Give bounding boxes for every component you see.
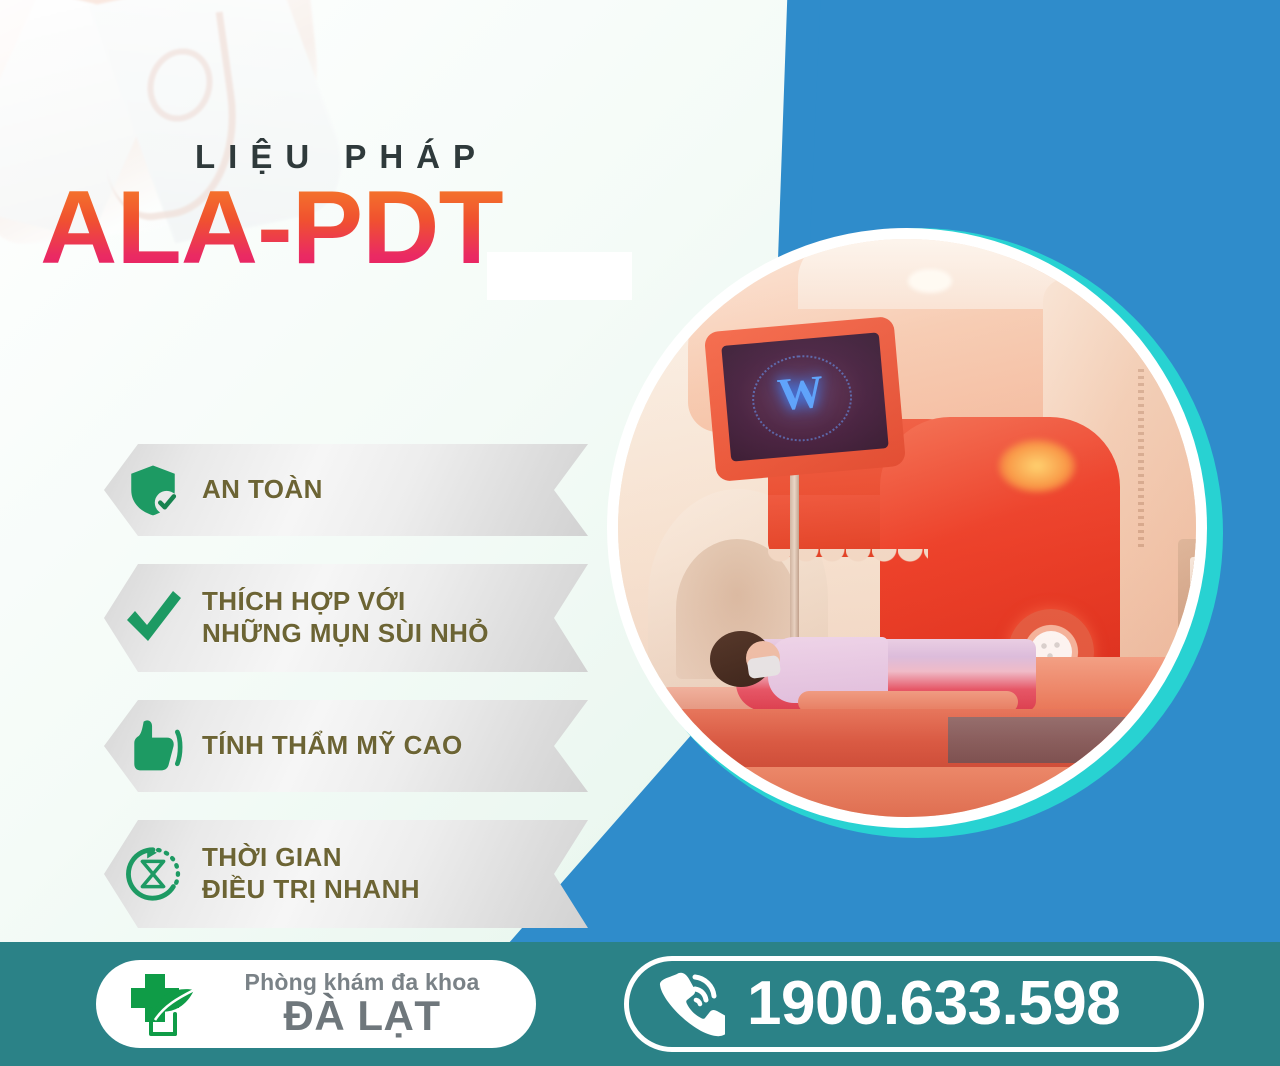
shield-check-icon [104,461,202,519]
feature-line: AN TOÀN [202,474,323,506]
feature-badge-thich-hop[interactable]: THÍCH HỢP VỚI NHỮNG MỤN SÙI NHỎ [104,564,588,672]
medical-cross-leaf-icon [118,968,210,1040]
clock-hourglass-icon [104,844,202,904]
phone-number: 1900.633.598 [747,973,1120,1035]
page-title: ALA-PDT [40,181,503,277]
clinic-logo-pill[interactable]: Phòng khám đa khoa ĐÀ LẠT [96,960,536,1048]
thumbs-up-icon [104,717,202,775]
feature-line: NHỮNG MỤN SÙI NHỎ [202,618,489,650]
check-mark-icon [104,587,202,649]
feature-badge-text: THÍCH HỢP VỚI NHỮNG MỤN SÙI NHỎ [202,586,529,649]
feature-badge-text: TÍNH THẨM MỸ CAO [202,730,503,762]
phone-cta[interactable]: 1900.633.598 [624,956,1204,1052]
heading-kicker: LIỆU PHÁP [40,140,660,173]
feature-badge-text: AN TOÀN [202,474,363,506]
clinic-name: ĐÀ LẠT [284,995,441,1038]
feature-line: ĐIỀU TRỊ NHANH [202,874,420,906]
feature-badge-thoi-gian[interactable]: THỜI GIAN ĐIỀU TRỊ NHANH [104,820,588,928]
footer-bar: Phòng khám đa khoa ĐÀ LẠT 1900.633.598 [0,942,1280,1066]
device-monitor-screen: W [721,332,889,461]
therapy-photo: W [618,239,1196,817]
feature-line: THÍCH HỢP VỚI [202,586,489,618]
phone-ring-icon [655,967,725,1042]
feature-line: TÍNH THẨM MỸ CAO [202,730,463,762]
promo-banner: LIỆU PHÁP ALA-PDT W [0,0,1280,1066]
feature-badge-list: AN TOÀN THÍCH HỢP VỚI NHỮNG MỤN SÙI NHỎ [104,444,594,956]
redaction-block [487,252,632,300]
feature-badge-text: THỜI GIAN ĐIỀU TRỊ NHANH [202,842,460,905]
feature-line: THỜI GIAN [202,842,420,874]
feature-badge-an-toan[interactable]: AN TOÀN [104,444,588,536]
device-screen-logo: W [761,362,840,426]
feature-badge-tham-my[interactable]: TÍNH THẨM MỸ CAO [104,700,588,792]
